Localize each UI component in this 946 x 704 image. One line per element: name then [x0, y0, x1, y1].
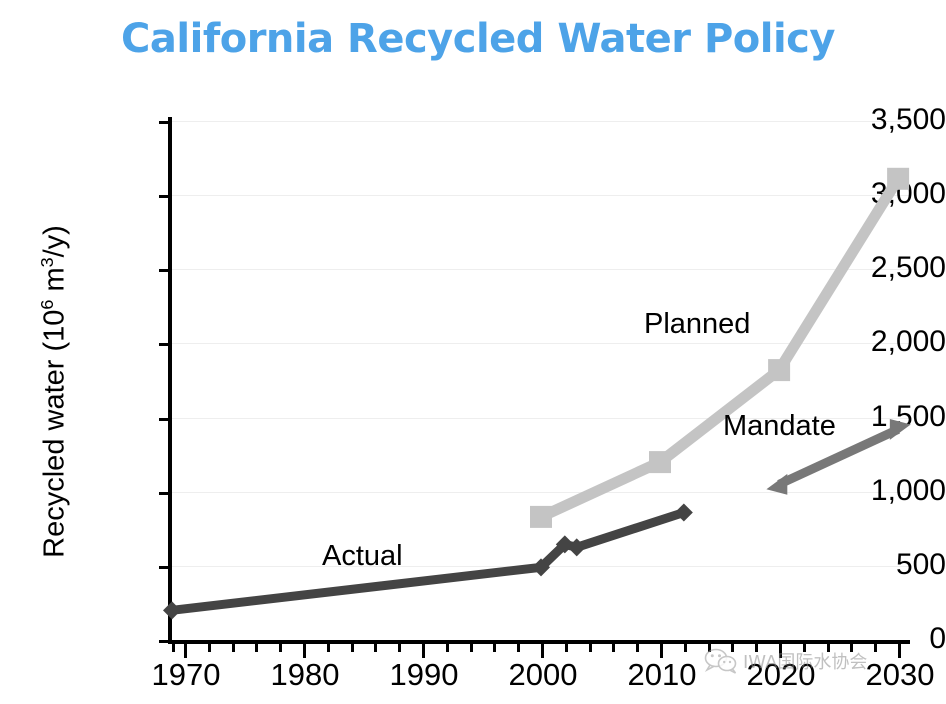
y-tick-2000 — [159, 343, 172, 346]
x-tick-1992 — [446, 643, 449, 652]
x-tick-2006 — [612, 643, 615, 652]
x-tick-2012 — [684, 643, 687, 652]
y-tick-0 — [159, 640, 172, 643]
y-axis-exponent-3: 3 — [37, 257, 57, 267]
x-tick-2018 — [755, 643, 758, 652]
x-tick-2008 — [636, 643, 639, 652]
x-tick-1996 — [493, 643, 496, 652]
y-tick-3000 — [159, 195, 172, 198]
page-title: California Recycled Water Policy — [0, 16, 946, 62]
y-axis-title-suffix: /y) — [39, 225, 71, 257]
y-tick-label-3000: 3,000 — [794, 177, 946, 211]
x-tick-1970 — [184, 643, 187, 658]
series-label-actual: Actual — [322, 540, 403, 573]
x-tick-1986 — [374, 643, 377, 652]
x-tick-1990 — [422, 643, 425, 658]
x-tick-1994 — [470, 643, 473, 652]
x-tick-1998 — [517, 643, 520, 652]
x-tick-2030 — [898, 643, 901, 658]
x-tick-2014 — [708, 643, 711, 652]
y-tick-500 — [159, 566, 172, 569]
y-tick-label-3500: 3,500 — [794, 103, 946, 137]
y-axis-title-prefix: Recycled water (10 — [39, 310, 71, 558]
x-tick-1978 — [279, 643, 282, 652]
x-tick-label-2030: 2030 — [830, 657, 946, 693]
chart-figure: California Recycled Water Policy Recycle… — [0, 0, 946, 704]
x-tick-2028 — [874, 643, 877, 652]
x-tick-2004 — [589, 643, 592, 652]
x-tick-2026 — [850, 643, 853, 652]
x-tick-2010 — [660, 643, 663, 658]
x-tick-2020 — [779, 643, 782, 658]
y-tick-1000 — [159, 492, 172, 495]
y-tick-3500 — [159, 121, 172, 124]
x-tick-2024 — [827, 643, 830, 652]
y-tick-label-500: 500 — [794, 548, 946, 582]
x-tick-1969 — [172, 643, 175, 652]
series-label-mandate: Mandate — [723, 410, 836, 443]
x-tick-2016 — [731, 643, 734, 652]
x-tick-1972 — [208, 643, 211, 652]
x-tick-1974 — [232, 643, 235, 652]
x-tick-1982 — [327, 643, 330, 652]
x-tick-1976 — [255, 643, 258, 652]
y-tick-label-2000: 2,000 — [794, 325, 946, 359]
y-tick-1500 — [159, 418, 172, 421]
y-tick-label-2500: 2,500 — [794, 251, 946, 285]
y-axis-title: Recycled water (106 m3/y) — [39, 112, 72, 672]
x-tick-1980 — [303, 643, 306, 658]
y-axis-exponent-6: 6 — [37, 300, 57, 310]
y-tick-2500 — [159, 269, 172, 272]
series-label-planned: Planned — [644, 308, 750, 341]
x-tick-2002 — [565, 643, 568, 652]
y-tick-label-1000: 1,000 — [794, 474, 946, 508]
y-axis-title-mid: m — [39, 267, 71, 299]
x-tick-1984 — [351, 643, 354, 652]
x-tick-2022 — [803, 643, 806, 652]
x-tick-2000 — [541, 643, 544, 658]
y-tick-label-0: 0 — [794, 622, 946, 656]
x-tick-1988 — [398, 643, 401, 652]
